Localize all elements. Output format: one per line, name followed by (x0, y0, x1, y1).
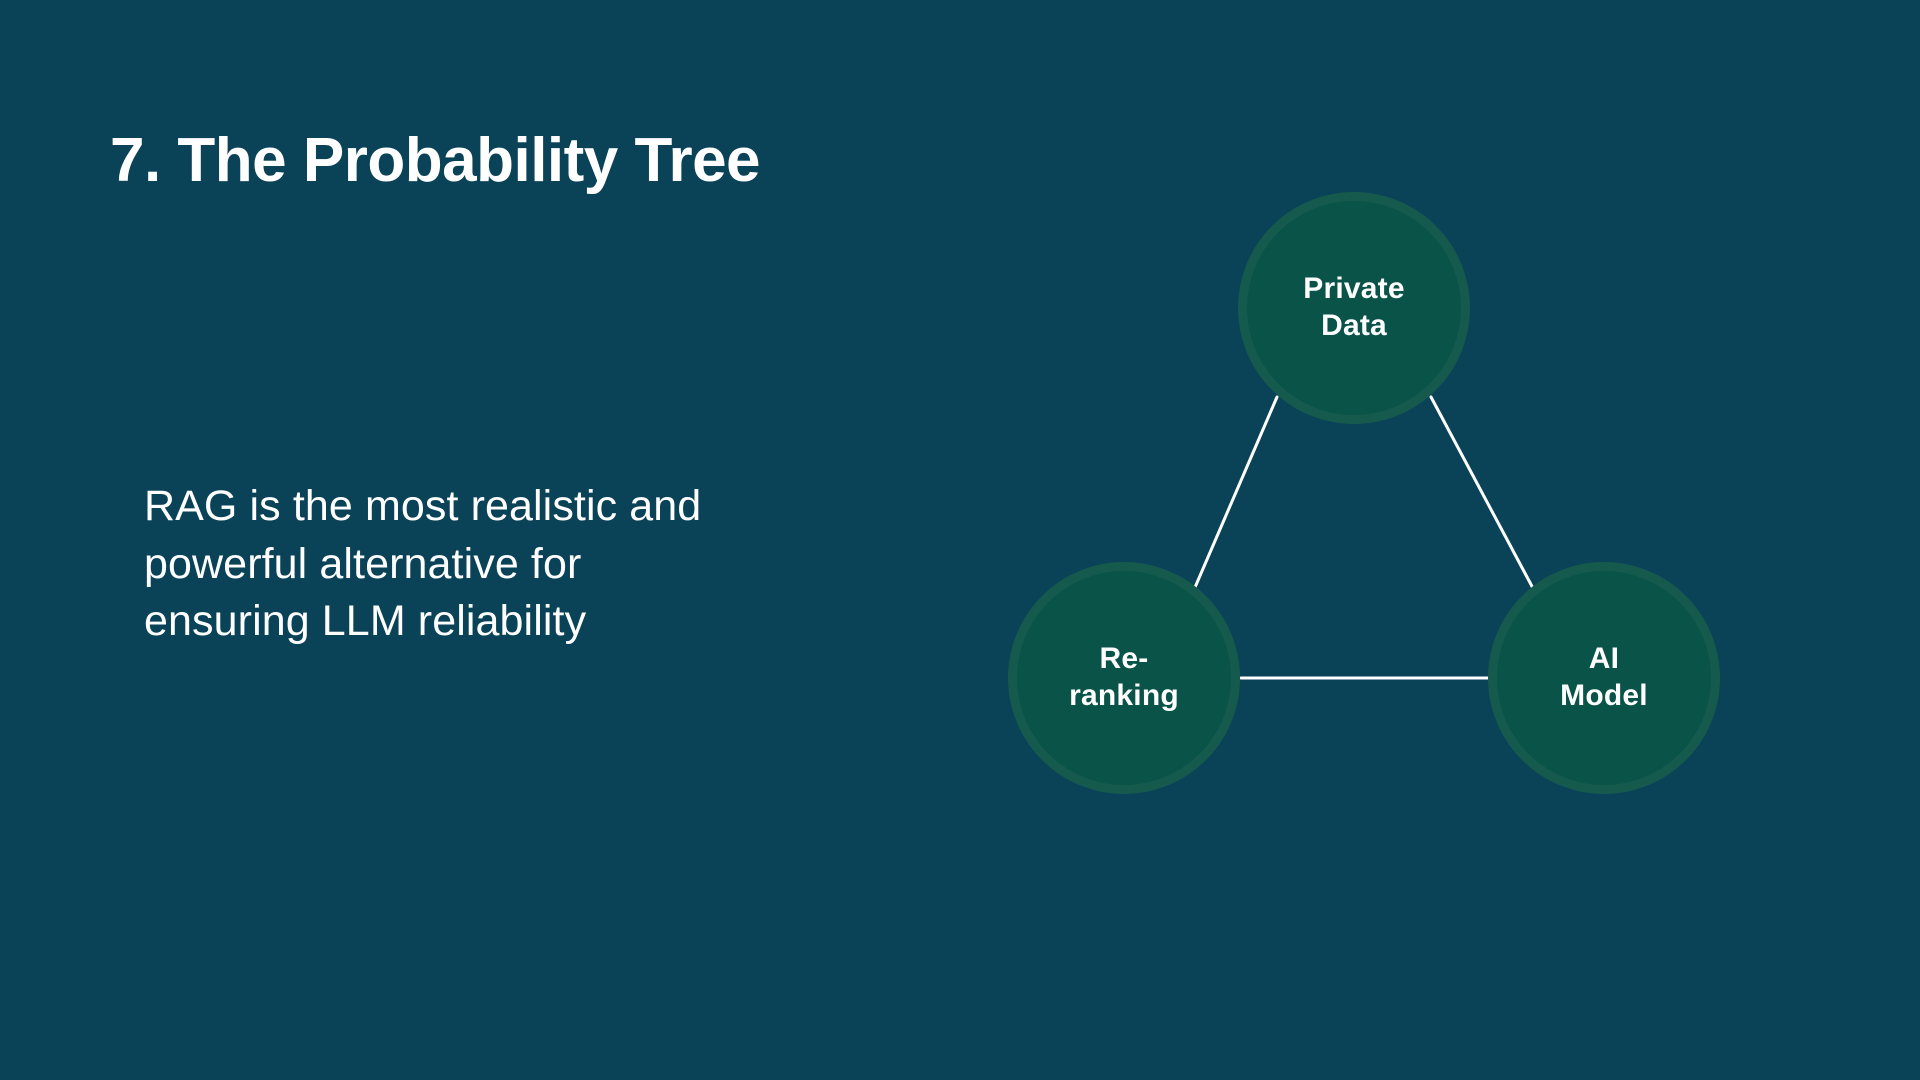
node-label-line-2: ranking (1069, 678, 1179, 715)
connector-private-data-to-re-ranking (1193, 397, 1277, 592)
node-label-line-1: AI (1560, 641, 1648, 678)
diagram-node-label: Private Data (1293, 271, 1414, 344)
diagram-node-label: AI Model (1550, 641, 1658, 714)
diagram-node-label: Re- ranking (1059, 641, 1189, 714)
diagram-node-private-data[interactable]: Private Data (1238, 192, 1470, 424)
node-label-line-1: Re- (1069, 641, 1179, 678)
triangle-diagram: Private Data Re- ranking AI Model (960, 180, 1920, 940)
connector-private-data-to-ai-model (1431, 397, 1535, 592)
page-title: 7. The Probability Tree (110, 126, 760, 195)
node-label-line-2: Model (1560, 678, 1648, 715)
node-label-line-2: Data (1303, 308, 1404, 345)
diagram-node-ai-model[interactable]: AI Model (1488, 562, 1720, 794)
body-line-3: ensuring LLM reliability (144, 593, 864, 651)
slide-canvas: 7. The Probability Tree RAG is the most … (0, 0, 1920, 1080)
body-line-2: powerful alternative for (144, 536, 864, 594)
body-line-1: RAG is the most realistic and (144, 478, 864, 536)
node-label-line-1: Private (1303, 271, 1404, 308)
diagram-node-re-ranking[interactable]: Re- ranking (1008, 562, 1240, 794)
body-paragraph: RAG is the most realistic and powerful a… (144, 478, 864, 651)
